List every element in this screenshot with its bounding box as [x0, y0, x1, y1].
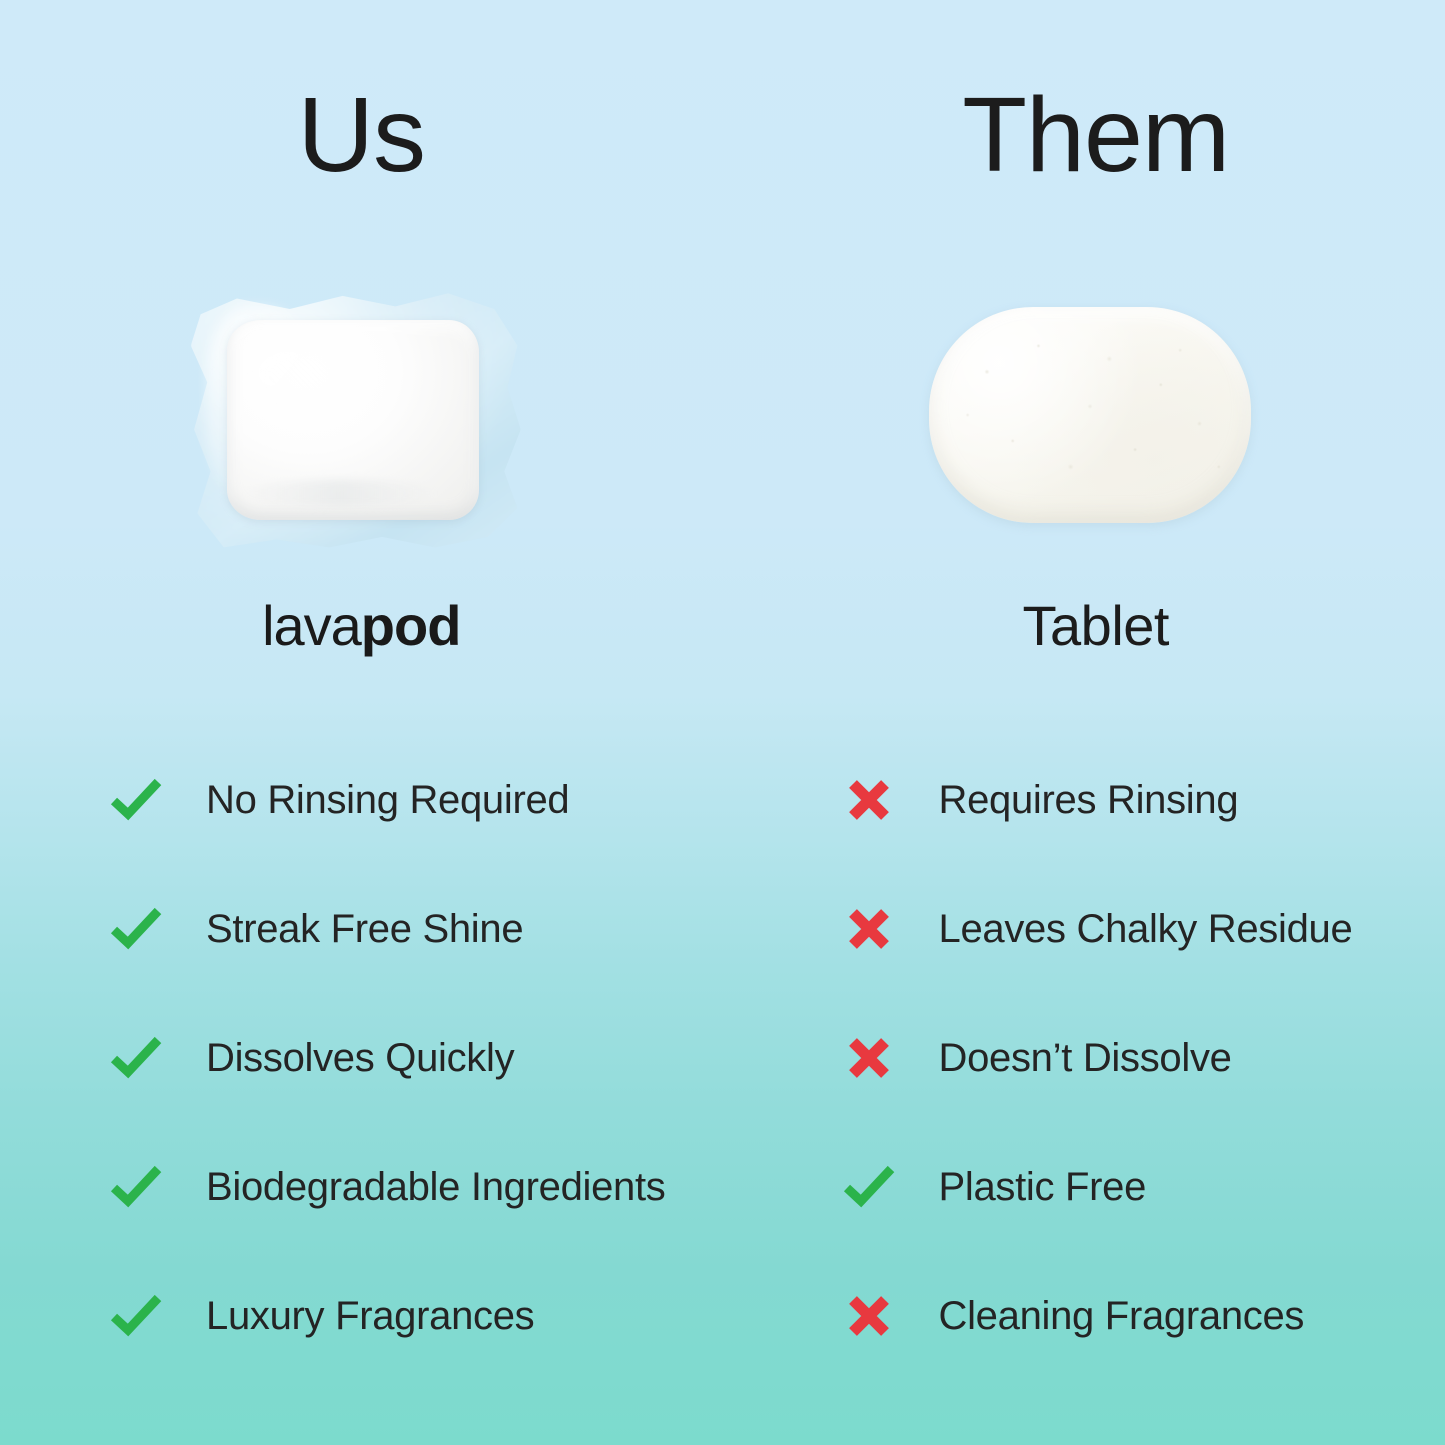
- product-col-us: [0, 255, 710, 575]
- pod-powder-block: [227, 320, 479, 520]
- feature-list-them: Requires Rinsing Leaves Chalky Residue D…: [1, 735, 841, 1395]
- product-col-them: [710, 255, 1445, 575]
- label-col-us: lavapod: [0, 598, 723, 654]
- lavapod-sachet-image: [183, 270, 527, 560]
- feature-label: Doesn’t Dissolve: [939, 1036, 1232, 1080]
- tablet-label: Tablet: [1023, 598, 1169, 654]
- column-headings: Us Them: [0, 82, 1445, 188]
- heading-them: Them: [962, 82, 1229, 188]
- lavapod-logotype: lavapod: [262, 598, 460, 654]
- dishwasher-tablet-image: [929, 307, 1251, 523]
- label-col-them: Tablet: [723, 598, 1445, 654]
- feature-label: Requires Rinsing: [939, 778, 1239, 822]
- product-images-row: [0, 255, 1445, 575]
- product-labels-row: lavapod Tablet: [0, 598, 1445, 654]
- heading-us: Us: [297, 82, 425, 188]
- heading-col-them: Them: [723, 82, 1445, 188]
- check-icon: [841, 1165, 897, 1209]
- logotype-lava: lava: [262, 594, 361, 657]
- comparison-lists: No Rinsing Required Streak Free Shine Di…: [0, 735, 1445, 1395]
- logotype-pod: pod: [361, 594, 461, 657]
- feature-label: Leaves Chalky Residue: [939, 907, 1353, 951]
- feature-label: Plastic Free: [939, 1165, 1147, 1209]
- comparison-infographic: Us Them lavapod Tablet: [0, 0, 1445, 1445]
- tablet-speckle-texture: [929, 307, 1251, 523]
- cross-icon: [841, 776, 897, 824]
- cross-icon: [841, 1292, 897, 1340]
- feature-label: Cleaning Fragrances: [939, 1294, 1305, 1338]
- cross-icon: [841, 905, 897, 953]
- cross-icon: [841, 1034, 897, 1082]
- heading-col-us: Us: [0, 82, 723, 188]
